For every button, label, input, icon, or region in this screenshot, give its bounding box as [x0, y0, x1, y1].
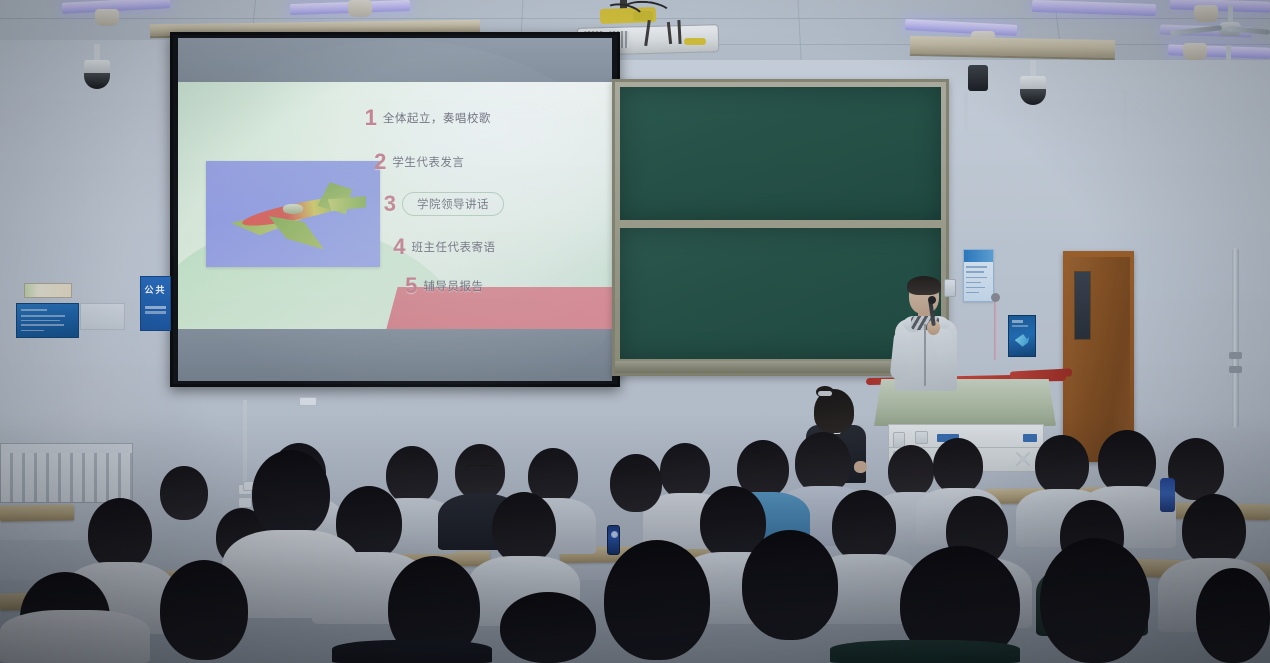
- agenda-text: 班主任代表寄语: [412, 239, 496, 255]
- ceiling-mount-cap: [1183, 43, 1207, 60]
- hanging-rod-knob: [991, 293, 1000, 302]
- door-window: [1074, 271, 1091, 340]
- wall-conduit: [1123, 90, 1127, 150]
- hanging-rod: [994, 298, 997, 360]
- hair-clip: [818, 391, 832, 396]
- speaker-hair: [907, 276, 941, 295]
- audience-head: [1196, 568, 1270, 663]
- lecture-desk: [0, 504, 74, 521]
- poster-header: [964, 250, 993, 262]
- equipment-poster-blue: [1008, 315, 1036, 357]
- audience-shoulders: [332, 640, 492, 663]
- agenda-text: 辅导员报告: [423, 278, 483, 294]
- wall-socket: [238, 497, 252, 508]
- audience-head: [1035, 435, 1089, 495]
- audience-head: [1098, 430, 1156, 494]
- audience-head: [492, 492, 556, 564]
- agenda-number: 2: [374, 151, 386, 173]
- audience-head: [252, 450, 330, 538]
- audience-head: [604, 540, 710, 660]
- agenda-item: 1 全体起立，奏唱校歌: [365, 107, 491, 129]
- audience-head: [160, 560, 248, 660]
- ceiling-mount-cap: [95, 9, 119, 26]
- audience-head: [832, 490, 896, 562]
- agenda-text: 全体起立，奏唱校歌: [383, 110, 491, 126]
- agenda-text: 学院领导讲话: [402, 192, 504, 216]
- slide-agenda-list: 1 全体起立，奏唱校歌 2 学生代表发言 3 学院领导讲话 4 班主任代表寄语: [365, 94, 604, 311]
- podium-label: [1023, 434, 1037, 442]
- phone-screen-icon: [611, 531, 618, 538]
- man-at-podium: [893, 278, 959, 390]
- ceiling-mount-cap: [1194, 5, 1218, 22]
- speaker-zipper: [924, 324, 926, 386]
- audience-shoulders: [0, 610, 150, 663]
- audience-head: [610, 454, 662, 512]
- audience-head: [742, 530, 838, 640]
- slide-airplane-photo: [206, 161, 380, 267]
- agenda-item-highlighted: 3 学院领导讲话: [384, 192, 504, 216]
- chalkboard-panel-upper: [620, 87, 941, 220]
- audience-head: [500, 592, 596, 663]
- woman-hand: [854, 461, 867, 473]
- airplane-engine: [283, 204, 304, 215]
- pipe-clip: [1229, 352, 1242, 359]
- wall-radiator: [0, 443, 133, 503]
- poster-graphic: [1015, 334, 1030, 348]
- info-poster-blue: [963, 249, 994, 302]
- audience-head: [1168, 438, 1224, 500]
- audience-head: [1182, 494, 1246, 566]
- agenda-item: 5 辅导员报告: [405, 275, 483, 297]
- agenda-text: 学生代表发言: [392, 154, 464, 170]
- eyeglasses: [466, 465, 496, 472]
- pipe-clip: [1229, 366, 1242, 373]
- agenda-item: 2 学生代表发言: [374, 151, 464, 173]
- public-sign-label: 公共: [144, 283, 166, 296]
- agenda-number: 1: [365, 107, 377, 129]
- airplane-wing: [265, 216, 324, 252]
- projected-slide: 1 全体起立，奏唱校歌 2 学生代表发言 3 学院领导讲话 4 班主任代表寄语: [178, 82, 612, 329]
- ceiling-beam: [910, 36, 1115, 60]
- agenda-number: 3: [384, 193, 396, 215]
- podium-logo: [1016, 452, 1030, 466]
- screen-surface: 1 全体起立，奏唱校歌 2 学生代表发言 3 学院领导讲话 4 班主任代表寄语: [178, 38, 612, 381]
- audience-head: [160, 466, 208, 520]
- audience-shoulders: [830, 640, 1020, 663]
- wall-notice-blue: [16, 303, 79, 338]
- audience-head: [1040, 538, 1150, 663]
- microphone-head: [928, 296, 936, 304]
- public-sign: 公共: [140, 276, 171, 331]
- water-bottle: [1160, 478, 1175, 512]
- agenda-item: 4 班主任代表寄语: [393, 236, 495, 258]
- wall-conduit: [243, 400, 247, 484]
- wall-socket: [299, 397, 317, 406]
- wall-blank-notice: [80, 303, 125, 330]
- wall-conduit: [964, 92, 968, 132]
- wall-notice-small: [24, 283, 72, 298]
- smartphone[interactable]: [607, 525, 620, 555]
- podium-panel: [915, 431, 928, 444]
- wall-speaker: [968, 65, 988, 91]
- screen-bottom-margin: [178, 329, 612, 381]
- ceiling-mount-cap: [348, 0, 372, 17]
- lecture-hall-photo: 1 全体起立，奏唱校歌 2 学生代表发言 3 学院领导讲话 4 班主任代表寄语: [0, 0, 1270, 663]
- audience-head: [88, 498, 152, 570]
- audience-head: [888, 445, 934, 497]
- wall-pipe: [1232, 248, 1239, 428]
- audience-head: [660, 443, 710, 499]
- agenda-number: 5: [405, 275, 417, 297]
- audience-head: [795, 432, 851, 494]
- audience-head: [455, 444, 505, 500]
- projection-screen: 1 全体起立，奏唱校歌 2 学生代表发言 3 学院领导讲话 4 班主任代表寄语: [170, 32, 620, 387]
- screen-top-margin: [178, 38, 612, 82]
- agenda-number: 4: [393, 236, 405, 258]
- audience-head: [386, 446, 438, 504]
- audience-head: [933, 438, 983, 494]
